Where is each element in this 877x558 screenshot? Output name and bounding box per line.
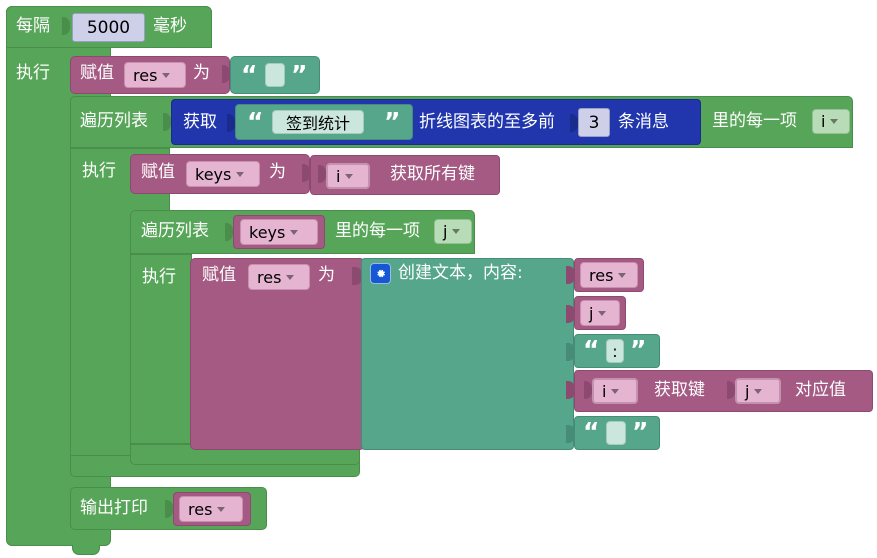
open-quote-3: “ (583, 337, 599, 362)
lookup-key-value: j (745, 382, 749, 401)
set-keys-variable-field[interactable]: keys (186, 161, 260, 187)
foreach-outer-variable-field[interactable]: i (812, 109, 850, 134)
foreach-inner-list-field[interactable]: keys (240, 219, 318, 245)
chevron-down-icon (217, 507, 225, 512)
set-res-join-label: 赋值 (202, 267, 236, 284)
blockly-workspace[interactable]: 每隔 5000 毫秒 执行 赋值 res 为 “ ” 遍历列表 获取 “ 签到统… (0, 0, 877, 558)
create-text-label: 创建文本，内容: (398, 265, 523, 282)
close-quote-4: ” (632, 419, 648, 444)
create-text-item-1-field[interactable]: res (580, 262, 638, 288)
lookup-key-field[interactable]: j (735, 378, 781, 404)
block-bottom-tab (72, 545, 100, 555)
chart-get-label: 获取 (183, 114, 217, 131)
foreach-inner-list-value: keys (249, 223, 285, 242)
chart-messages-label: 条消息 (618, 114, 669, 131)
chevron-down-icon (830, 119, 838, 124)
lookup-value-label: 对应值 (795, 382, 846, 399)
print-variable-field[interactable]: res (179, 496, 243, 522)
chevron-down-icon (754, 389, 762, 394)
foreach-outer-each-label: 里的每一项 (712, 113, 797, 130)
empty-text-input-1[interactable] (265, 63, 285, 87)
chevron-down-icon (452, 229, 460, 234)
gear-icon[interactable] (370, 263, 391, 284)
create-text-item-3-input[interactable]: : (606, 339, 624, 363)
foreach-inner-label: 遍历列表 (141, 223, 209, 240)
block-create-text[interactable] (361, 258, 574, 450)
create-text-item-2-field[interactable]: j (580, 300, 620, 326)
set-res-join-variable-field[interactable]: res (248, 264, 310, 290)
open-quote-2: “ (247, 109, 263, 134)
chevron-down-icon (286, 275, 294, 280)
close-quote-1: ” (291, 62, 307, 87)
close-quote-2: ” (384, 109, 400, 134)
timer-unit-label: 毫秒 (153, 18, 187, 35)
foreach-outer-do-label: 执行 (82, 163, 116, 180)
open-quote-1: “ (241, 62, 257, 87)
set-res-variable-value: res (133, 66, 157, 85)
lookup-object-value: i (602, 382, 606, 401)
timer-every-label: 每隔 (16, 18, 50, 35)
get-all-keys-object-value: i (336, 167, 340, 186)
set-res-variable-field[interactable]: res (124, 62, 186, 88)
open-quote-4: “ (583, 419, 599, 444)
lookup-get-key-label: 获取键 (654, 382, 705, 399)
set-keys-to-label: 为 (269, 164, 286, 181)
foreach-outer-label: 遍历列表 (80, 113, 148, 130)
get-all-keys-object-field[interactable]: i (326, 163, 370, 189)
set-res-to-label: 为 (193, 65, 210, 82)
set-keys-label: 赋值 (141, 164, 175, 181)
create-text-item-1-value: res (589, 266, 613, 285)
create-text-item-2-value: j (589, 304, 593, 323)
print-variable-value: res (188, 500, 212, 519)
chart-name-input[interactable]: 签到统计 (272, 110, 364, 134)
chevron-down-icon (236, 172, 244, 177)
foreach-inner-variable-field[interactable]: j (434, 219, 472, 244)
foreach-inner-each-label: 里的每一项 (335, 223, 420, 240)
get-all-keys-label: 获取所有键 (390, 166, 475, 183)
chart-at-most-label: 折线图表的至多前 (419, 114, 555, 131)
chevron-down-icon (598, 311, 606, 316)
foreach-outer-variable-value: i (821, 112, 825, 131)
chevron-down-icon (162, 73, 170, 78)
print-label: 输出打印 (80, 500, 148, 517)
close-quote-3: ” (630, 337, 646, 362)
foreach-inner-variable-value: j (443, 222, 447, 241)
create-text-item-5-input[interactable] (606, 421, 626, 445)
set-res-join-variable-value: res (257, 268, 281, 287)
timer-interval-input[interactable]: 5000 (72, 13, 145, 42)
set-keys-variable-value: keys (195, 165, 231, 184)
chevron-down-icon (618, 273, 626, 278)
timer-do-label: 执行 (16, 65, 50, 82)
lookup-object-field[interactable]: i (592, 378, 638, 404)
chart-count-input[interactable]: 3 (578, 108, 610, 137)
foreach-inner-do-label: 执行 (142, 269, 176, 286)
chevron-down-icon (345, 174, 353, 179)
set-res-join-to-label: 为 (318, 267, 335, 284)
chevron-down-icon (611, 389, 619, 394)
set-res-label: 赋值 (80, 65, 114, 82)
chevron-down-icon (290, 230, 298, 235)
